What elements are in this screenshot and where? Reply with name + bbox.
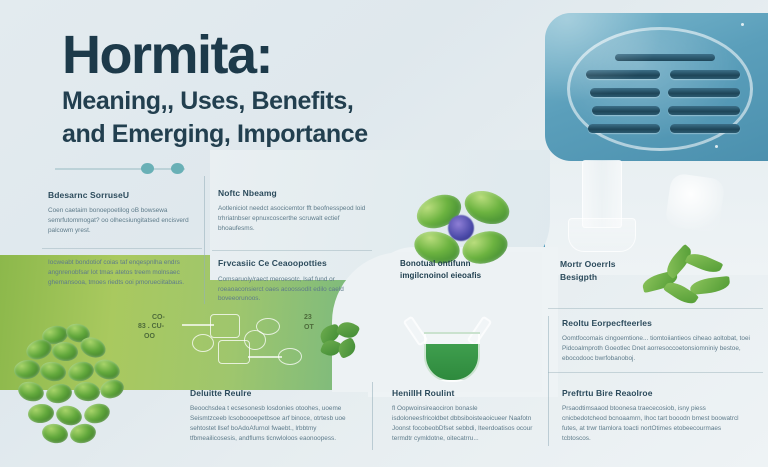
leaf-sprig-icon xyxy=(640,252,740,312)
algae-bead xyxy=(27,403,55,425)
pill xyxy=(670,124,740,133)
card-notic-meaning: Noftc Nbeamg Aotleniciot needct asocicem… xyxy=(218,188,368,234)
divider-dot xyxy=(171,163,184,174)
molecule-ring xyxy=(218,340,250,364)
sparkle xyxy=(715,145,718,148)
molecule-label-left-3: OO xyxy=(144,333,155,342)
cell-cluster-icon xyxy=(408,192,518,264)
second-card-divider xyxy=(212,250,372,251)
card-heading: HenilIH Roulint xyxy=(392,388,534,398)
algae-bead xyxy=(82,401,112,426)
algae-bead xyxy=(45,382,74,405)
capsule-panel xyxy=(545,13,768,161)
capsule-squiggle xyxy=(615,54,715,61)
card-body: Aotleniciot needct asocicemtor fft beofn… xyxy=(218,204,368,234)
card-prettu-bire-reaoiroe: Preftrtu Bire Reaolroe Prsaodtimsaaod bt… xyxy=(562,388,748,444)
algae-bead xyxy=(13,358,41,380)
divider-line xyxy=(55,168,185,170)
card-heading: Deluitte Reulre xyxy=(190,388,352,398)
card-bonotual-nutrition: Bonotual ontifunn imgilcnoinol eieoafis xyxy=(400,258,496,287)
pill xyxy=(592,106,660,115)
molecule-label-right-1: 23 xyxy=(304,314,312,323)
molecule-diagram-icon: CO- 83 . CU- OO 23 OT xyxy=(152,312,332,380)
pill xyxy=(668,106,740,115)
card-body: Comsaruoly/raect meroesotc, lsaf fund or… xyxy=(218,275,368,305)
card-heading: Reoltu Eorpecfteerles xyxy=(562,318,752,328)
lab-cylinder-icon xyxy=(566,160,636,256)
cell-nucleus xyxy=(448,215,474,241)
column-divider-right xyxy=(548,316,549,446)
card-realth-earpecheerles: Reoltu Eorpecfteerles Oomtfocomais cingo… xyxy=(562,318,752,364)
molecule-node-icon xyxy=(665,173,726,234)
algae-bead xyxy=(41,422,70,445)
card-delitte-reulte: Deluitte Reulre Beoochsdea t ecsesonesb … xyxy=(190,388,352,444)
algae-bead xyxy=(16,379,46,404)
card-body: Beoochsdea t ecsesonesb losdonies otoohe… xyxy=(190,404,352,444)
algae-bead xyxy=(92,356,123,382)
molecule-bond xyxy=(248,356,282,358)
algae-cluster-icon xyxy=(8,318,140,458)
molecule-label-left-1: CO- xyxy=(152,314,165,323)
page-subtitle-line-1: Meaning,, Uses, Benefits, xyxy=(62,88,532,115)
card-heading: Frvcasiic Ce Ceaoopotties xyxy=(218,258,368,269)
card-basic-source: Bdesarnc SorruseU Coen caetaim bonoepoet… xyxy=(48,190,196,236)
algae-bead xyxy=(66,359,96,384)
page-title: Hormita: xyxy=(62,30,532,82)
infographic-poster: Hormita: Meaning,, Uses, Benefits, and E… xyxy=(0,0,768,467)
card-mortr-ooerrls: Mortr Ooerrls Besigpth xyxy=(560,258,630,290)
cylinder-base xyxy=(568,218,636,252)
butterfly-wing xyxy=(335,337,358,359)
card-body: Oomtfocomais cingoemtione... tiomtoiiant… xyxy=(562,334,752,364)
right-card-divider-2 xyxy=(548,372,763,373)
algae-bead xyxy=(98,377,126,402)
molecule-label-left-2: 83 . CU- xyxy=(138,323,164,332)
card-health-rount: HenilIH Roulint fl Oopwoinsireaociron bo… xyxy=(392,388,534,444)
flask-bulb xyxy=(424,332,480,382)
pill xyxy=(670,70,740,79)
sparkle xyxy=(741,23,744,26)
title-divider xyxy=(55,163,185,175)
pill xyxy=(668,88,740,97)
round-flask-icon xyxy=(400,316,498,382)
leaf xyxy=(689,276,730,295)
molecule-ring xyxy=(192,334,214,352)
left-card-divider xyxy=(42,248,202,249)
card-heading: Preftrtu Bire Reaolroe xyxy=(562,388,748,398)
butterfly-icon xyxy=(320,322,362,362)
title-block: Hormita: Meaning,, Uses, Benefits, and E… xyxy=(62,30,532,148)
card-body: Coen caetaim bonoepoetilog oB bowsewa se… xyxy=(48,206,196,236)
capsule-dish-icon xyxy=(567,27,753,151)
card-heading: Bdesarnc SorruseU xyxy=(48,190,196,200)
algae-bead xyxy=(73,380,101,402)
pill xyxy=(590,88,660,97)
divider-dot xyxy=(141,163,154,174)
card-body: fl Oopwoinsireaociron bonasle isdolonees… xyxy=(392,404,534,444)
pill xyxy=(588,124,660,133)
bottom-divider-1 xyxy=(372,382,373,450)
card-secondary-source: Iocweabt bondotiof coias taf enqespnlha … xyxy=(48,258,200,288)
molecule-label-right-2: OT xyxy=(304,324,314,333)
card-frvcasiic-properties: Frvcasiic Ce Ceaoopotties Comsaruoly/rae… xyxy=(218,258,368,304)
card-heading: Mortr Ooerrls Besigpth xyxy=(560,258,630,284)
algae-bead xyxy=(39,360,68,383)
card-heading: Noftc Nbeamg xyxy=(218,188,368,198)
algae-bead xyxy=(51,341,79,363)
column-divider-1 xyxy=(204,176,205,304)
pill xyxy=(586,70,660,79)
card-heading: Bonotual ontifunn imgilcnoinol eieoafis xyxy=(400,258,496,281)
right-card-divider-1 xyxy=(548,308,763,309)
card-body: Iocweabt bondotiof coias taf enqespnlha … xyxy=(48,258,200,288)
leaf xyxy=(685,249,724,276)
molecule-bond xyxy=(182,324,214,326)
card-body: Prsaodtimsaaod btoonesa traececosiob, is… xyxy=(562,404,748,444)
molecule-ring xyxy=(210,314,240,338)
page-subtitle-line-2: and Emerging, Importance xyxy=(62,121,532,148)
